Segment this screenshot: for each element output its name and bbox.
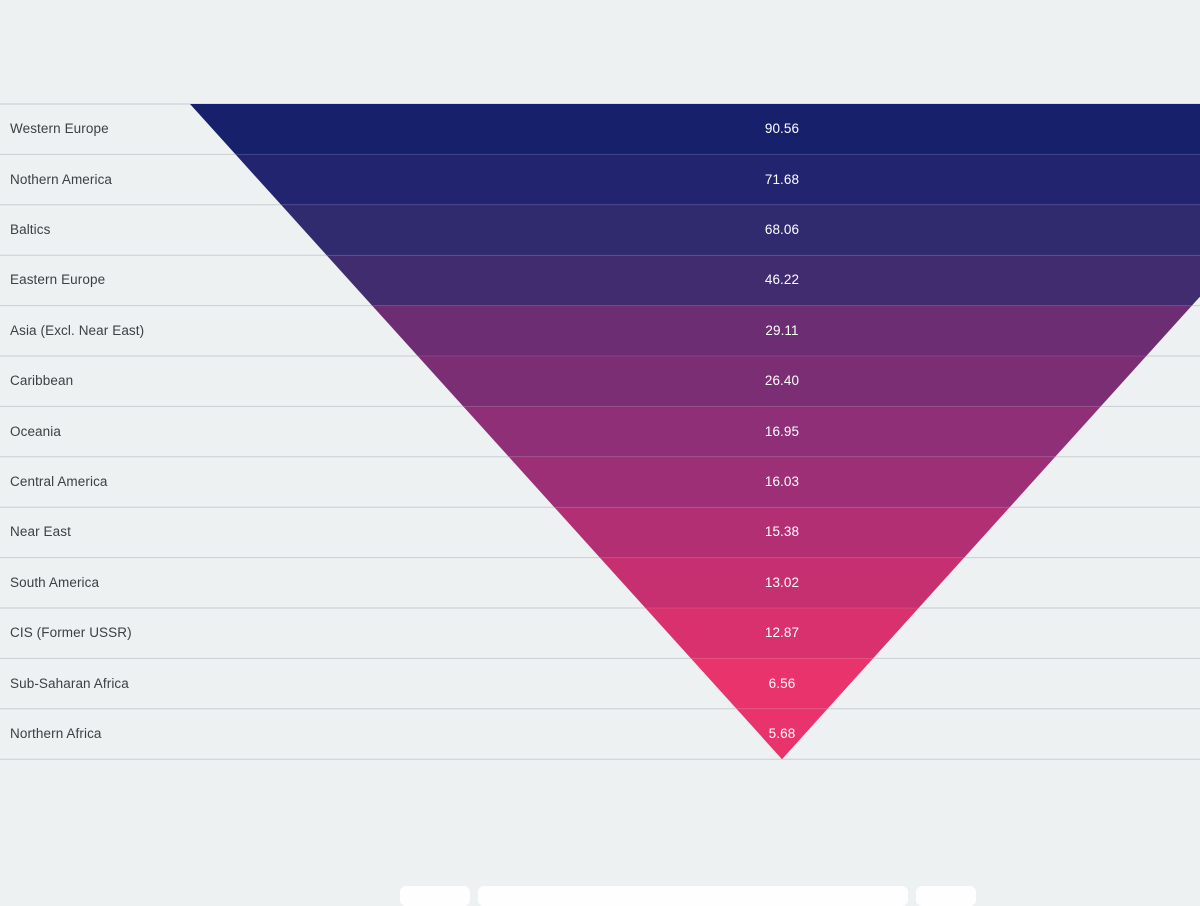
bottom-toolbar-chips[interactable] xyxy=(0,886,1200,900)
toolbar-chip[interactable] xyxy=(400,886,470,906)
funnel-band[interactable] xyxy=(236,154,1200,204)
toolbar-chip[interactable] xyxy=(916,886,976,906)
funnel-band[interactable] xyxy=(736,709,827,759)
funnel-band[interactable] xyxy=(463,406,1101,456)
funnel-band[interactable] xyxy=(190,104,1200,154)
funnel-band[interactable] xyxy=(372,306,1192,356)
toolbar-chip[interactable] xyxy=(478,886,908,906)
funnel-band[interactable] xyxy=(554,507,1009,557)
funnel-band[interactable] xyxy=(418,356,1147,406)
funnel-band[interactable] xyxy=(600,558,964,608)
funnel-bands xyxy=(190,104,1200,759)
funnel-svg xyxy=(0,0,1200,900)
funnel-band[interactable] xyxy=(509,457,1055,507)
funnel-chart: Western EuropeNothern AmericaBalticsEast… xyxy=(0,0,1200,900)
funnel-band[interactable] xyxy=(645,608,918,658)
plot-area xyxy=(0,0,1200,900)
funnel-band[interactable] xyxy=(327,255,1200,305)
funnel-band[interactable] xyxy=(691,658,873,708)
funnel-band[interactable] xyxy=(281,205,1200,255)
